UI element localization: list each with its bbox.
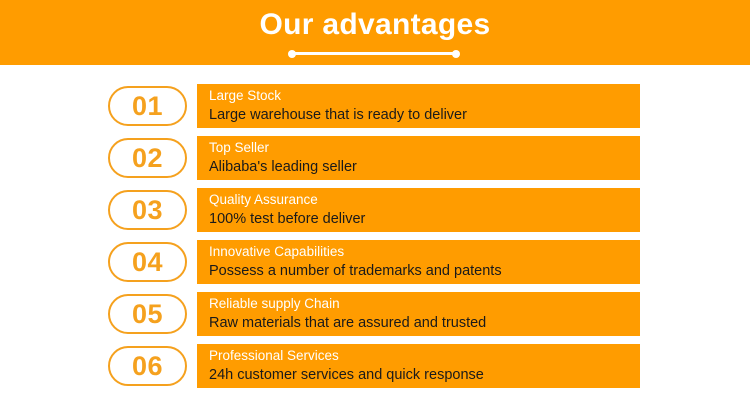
- list-item: 04 Innovative Capabilities Possess a num…: [0, 240, 750, 284]
- item-bar: [120, 188, 640, 232]
- item-number-badge: 01: [108, 86, 187, 126]
- item-number: 04: [132, 247, 163, 277]
- item-number-badge: 02: [108, 138, 187, 178]
- header-banner: Our advantages: [0, 0, 750, 65]
- title-divider: [292, 52, 456, 55]
- item-description: Raw materials that are assured and trust…: [209, 313, 486, 333]
- item-number: 03: [132, 195, 163, 225]
- item-number-badge: 05: [108, 294, 187, 334]
- item-title: Top Seller: [209, 139, 357, 157]
- item-description: Possess a number of trademarks and paten…: [209, 261, 502, 281]
- item-number-badge: 03: [108, 190, 187, 230]
- item-title: Innovative Capabilities: [209, 243, 502, 261]
- divider-dot-left-icon: [288, 50, 296, 58]
- item-text-block: Innovative Capabilities Possess a number…: [209, 240, 502, 284]
- item-number-badge: 06: [108, 346, 187, 386]
- list-item: 03 Quality Assurance 100% test before de…: [0, 188, 750, 232]
- item-bar: [120, 136, 640, 180]
- item-title: Large Stock: [209, 87, 467, 105]
- list-item: 06 Professional Services 24h customer se…: [0, 344, 750, 388]
- divider-dot-right-icon: [452, 50, 460, 58]
- item-number: 01: [132, 91, 163, 121]
- item-number: 06: [132, 351, 163, 381]
- item-text-block: Top Seller Alibaba's leading seller: [209, 136, 357, 180]
- list-item: 02 Top Seller Alibaba's leading seller: [0, 136, 750, 180]
- advantages-infographic: Our advantages 01 Large Stock Large ware…: [0, 0, 750, 400]
- advantages-list: 01 Large Stock Large warehouse that is r…: [0, 84, 750, 396]
- item-description: Alibaba's leading seller: [209, 157, 357, 177]
- item-title: Quality Assurance: [209, 191, 365, 209]
- item-text-block: Large Stock Large warehouse that is read…: [209, 84, 467, 128]
- item-text-block: Professional Services 24h customer servi…: [209, 344, 484, 388]
- item-description: 24h customer services and quick response: [209, 365, 484, 385]
- list-item: 05 Reliable supply Chain Raw materials t…: [0, 292, 750, 336]
- item-text-block: Quality Assurance 100% test before deliv…: [209, 188, 365, 232]
- list-item: 01 Large Stock Large warehouse that is r…: [0, 84, 750, 128]
- item-text-block: Reliable supply Chain Raw materials that…: [209, 292, 486, 336]
- item-description: 100% test before deliver: [209, 209, 365, 229]
- item-title: Reliable supply Chain: [209, 295, 486, 313]
- page-title: Our advantages: [0, 6, 750, 44]
- item-number-badge: 04: [108, 242, 187, 282]
- item-number: 02: [132, 143, 163, 173]
- item-title: Professional Services: [209, 347, 484, 365]
- item-number: 05: [132, 299, 163, 329]
- item-description: Large warehouse that is ready to deliver: [209, 105, 467, 125]
